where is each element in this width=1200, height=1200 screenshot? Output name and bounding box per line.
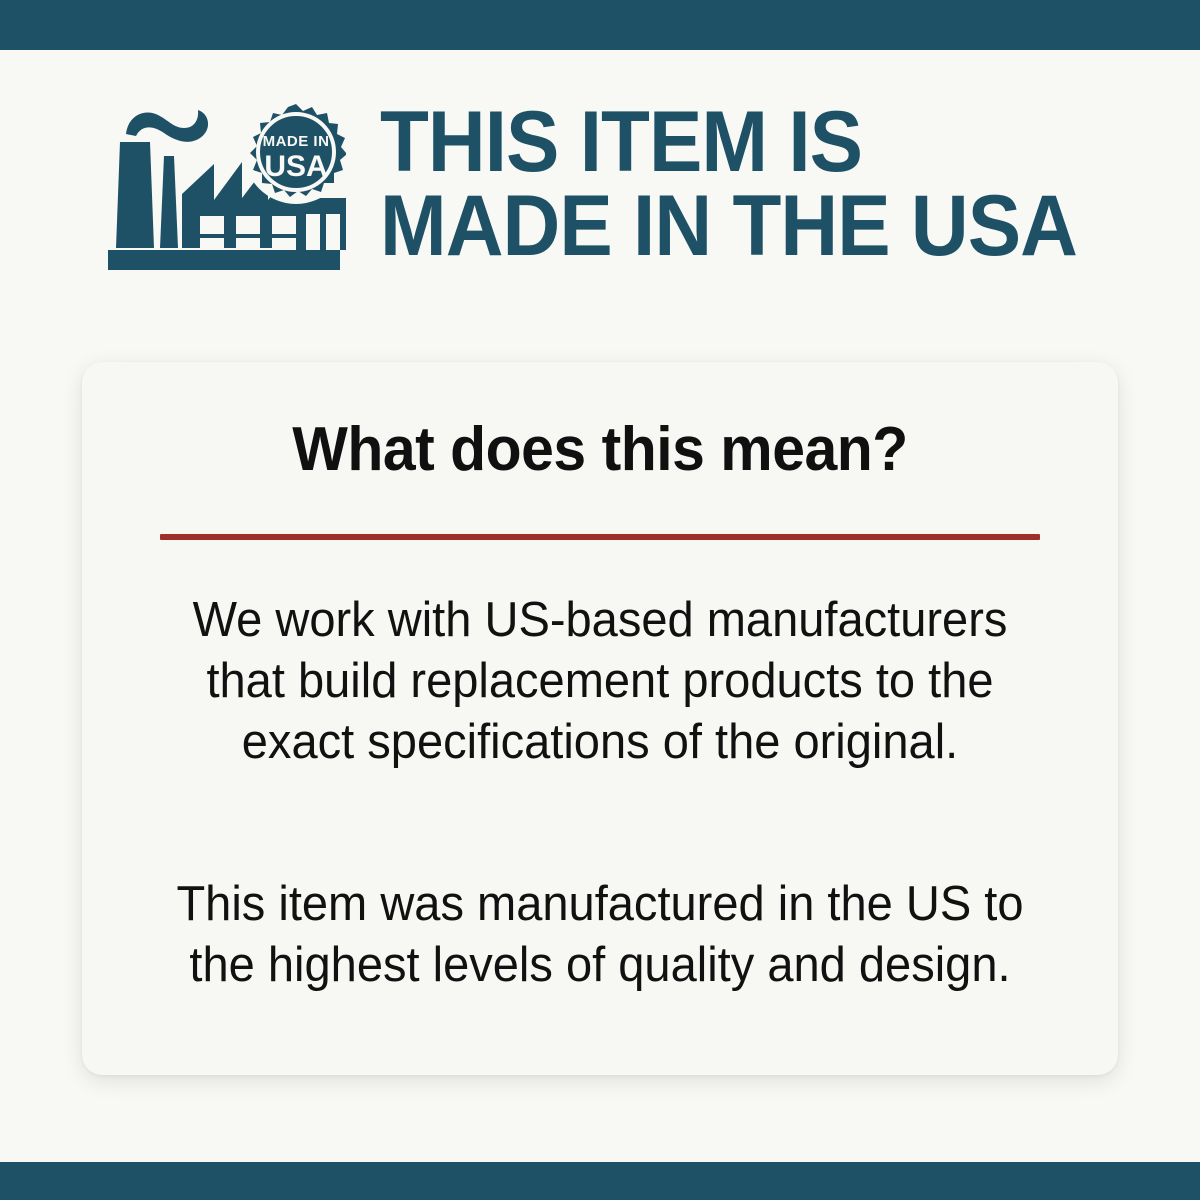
badge-line-2: USA <box>264 150 327 183</box>
top-brand-bar <box>0 0 1200 50</box>
page-title-line-1: THIS ITEM IS <box>380 100 1115 184</box>
info-card: What does this mean? We work with US-bas… <box>82 362 1118 1075</box>
card-heading: What does this mean? <box>108 414 1092 485</box>
card-divider <box>160 534 1040 540</box>
badge-line-1: MADE IN <box>263 133 330 150</box>
factory-icon: MADE IN USA <box>98 98 346 280</box>
card-paragraph-1: We work with US-based manufacturers that… <box>158 590 1041 772</box>
header: MADE IN USA THIS ITEM IS MADE IN THE USA <box>0 50 1200 295</box>
page-root: MADE IN USA THIS ITEM IS MADE IN THE USA… <box>0 0 1200 1200</box>
bottom-brand-bar <box>0 1162 1200 1200</box>
card-paragraph-2: This item was manufactured in the US to … <box>158 874 1041 996</box>
page-title: THIS ITEM IS MADE IN THE USA <box>380 100 1115 269</box>
page-title-line-2: MADE IN THE USA <box>380 184 1115 268</box>
